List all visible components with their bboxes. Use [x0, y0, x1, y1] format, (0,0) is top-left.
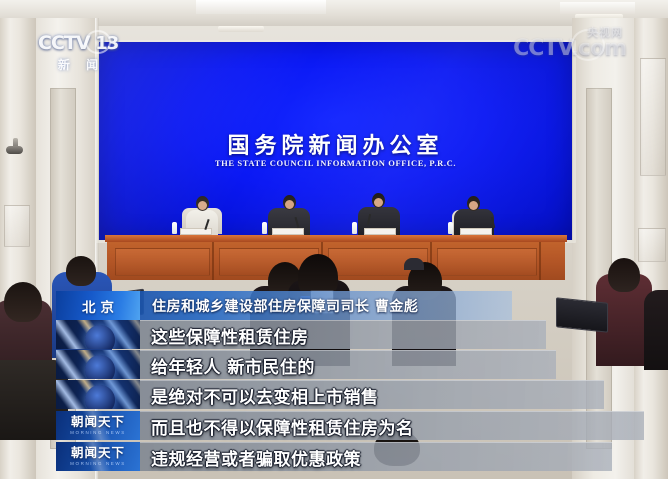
program-logo-2: 朝闻天下 MORNING NEWS: [56, 442, 140, 471]
headline-bar: 住房和城乡建设部住房保障司司长 曹金彪: [140, 291, 512, 320]
subtitle-row-3: 是绝对不可以去变相上市销售: [56, 380, 604, 409]
panelist-1-face: [198, 201, 207, 210]
backdrop-title-en: THE STATE COUNCIL INFORMATION OFFICE, P.…: [99, 158, 572, 168]
subtitle-bar-5: 违规经营或者骗取优惠政策: [140, 442, 612, 471]
subtitle-badge-swoosh-2: [56, 350, 140, 379]
panelist-4-bottle: [448, 222, 453, 234]
broadcast-frame: 国务院新闻办公室 THE STATE COUNCIL INFORMATION O…: [0, 0, 668, 479]
panelist-3-nameplate: [364, 228, 396, 235]
audience-member-6-head: [608, 258, 640, 292]
subtitle-text-2: 给年轻人 新市民住的: [151, 353, 315, 378]
subtitle-text-1: 这些保障性租赁住房: [151, 323, 309, 348]
subtitle-text-3: 是绝对不可以去变相上市销售: [151, 383, 379, 408]
wall-panel-lower-left: [4, 205, 30, 247]
subtitle-text-4: 而且也不得以保障性租赁住房为名: [151, 414, 414, 439]
wall-pilaster-right: [572, 18, 634, 479]
wall-panel-right: [640, 58, 666, 176]
subtitle-bar-2: 给年轻人 新市民住的: [140, 350, 556, 379]
subtitle-bar-3: 是绝对不可以去变相上市销售: [140, 380, 604, 409]
lower-third-headline-row: 北京 住房和城乡建设部住房保障司司长 曹金彪: [56, 291, 512, 320]
backdrop-title-cn: 国务院新闻办公室: [99, 128, 572, 160]
program-logo-shine-2: [56, 442, 140, 471]
audience-laptop-2: [556, 297, 608, 332]
panelist-1-nameplate: [180, 228, 212, 235]
location-tag-label: 北京: [56, 291, 140, 320]
panelist-2-nameplate: [272, 228, 304, 235]
wall-camera-fixture: [6, 146, 23, 154]
panelist-4-face: [469, 201, 478, 210]
subtitle-bar-1: 这些保障性租赁住房: [140, 320, 546, 349]
panelist-1-bottle: [172, 222, 177, 234]
subtitle-bar-4: 而且也不得以保障性租赁住房为名: [140, 411, 644, 440]
ceiling-strip-right: [560, 2, 635, 14]
panelist-2-face: [285, 200, 294, 209]
headline-text: 住房和城乡建设部住房保障司司长 曹金彪: [152, 296, 418, 316]
audience-member-5-cap: [404, 258, 424, 270]
panelist-3-bottle: [352, 222, 357, 234]
subtitle-row-5: 朝闻天下 MORNING NEWS 违规经营或者骗取优惠政策: [56, 442, 612, 471]
panelist-4-nameplate: [460, 228, 492, 235]
subtitle-text-5: 违规经营或者骗取优惠政策: [151, 445, 361, 470]
location-tag: 北京: [56, 291, 140, 320]
program-logo-1: 朝闻天下 MORNING NEWS: [56, 411, 140, 440]
subtitle-row-2: 给年轻人 新市民住的: [56, 350, 556, 379]
audience-member-1-head: [4, 282, 42, 322]
panelist-3-face: [374, 198, 383, 207]
ceiling-strip: [196, 0, 326, 14]
subtitle-badge-swoosh-1: [56, 320, 140, 349]
subtitle-row-1: 这些保障性租赁住房: [56, 320, 546, 349]
cctv-com-watermark-cn: 央视网: [587, 24, 623, 40]
cctv-com-watermark: 央视网 CCTV.com: [513, 36, 626, 70]
program-logo-shine-1: [56, 411, 140, 440]
ceiling-light-center: [218, 26, 264, 32]
subtitle-row-4: 朝闻天下 MORNING NEWS 而且也不得以保障性租赁住房为名: [56, 411, 644, 440]
wall-panel-lower-right: [638, 228, 666, 262]
audience-member-2-head: [66, 256, 96, 286]
subtitle-badge-swoosh-3: [56, 380, 140, 409]
audience-member-7-body: [644, 290, 668, 370]
panel-table-top: [105, 235, 567, 242]
panelist-2-bottle: [262, 222, 267, 234]
